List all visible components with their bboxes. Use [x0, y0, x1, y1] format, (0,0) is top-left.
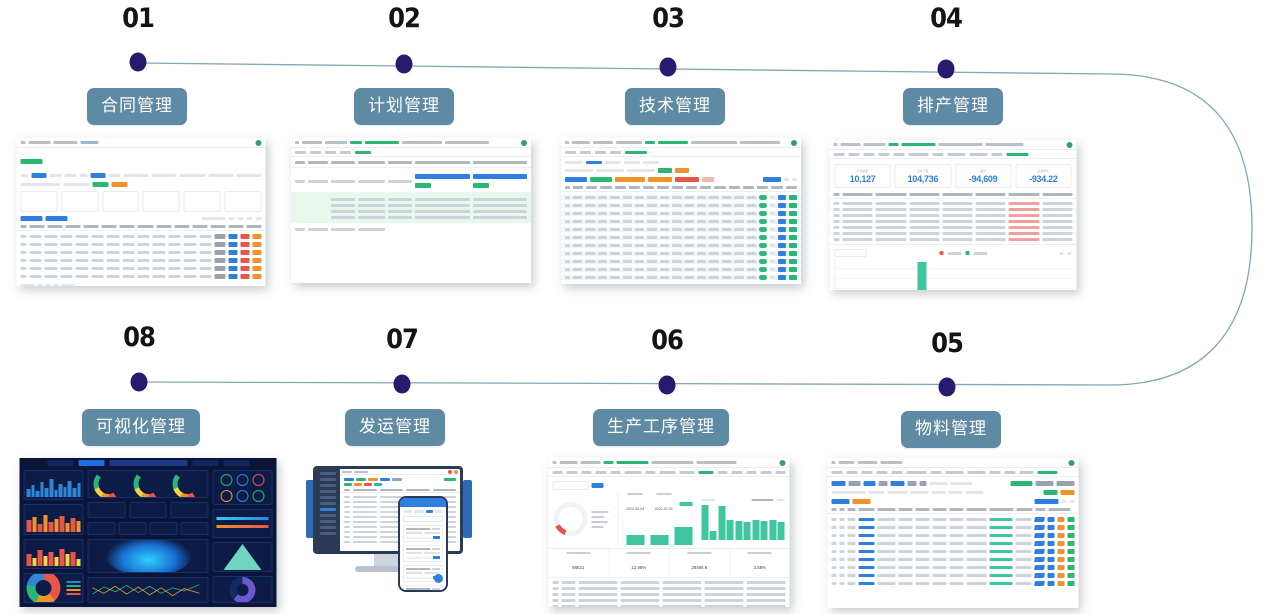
step-label-technical-management[interactable]: 技术管理 [625, 88, 725, 125]
kpi-value: 12.98% [631, 565, 646, 570]
bar-actual [918, 262, 927, 290]
table-row[interactable] [828, 565, 1079, 570]
step-label-contract-management[interactable]: 合同管理 [87, 88, 187, 125]
bi-pyramid-chart [212, 542, 272, 572]
mini-avatar [256, 140, 262, 146]
table-row[interactable] [561, 259, 801, 264]
mini-breadcrumb-bar [17, 138, 266, 148]
thumbnail-technical-management[interactable] [561, 138, 801, 284]
list-item[interactable] [403, 545, 443, 562]
pagination[interactable] [17, 284, 266, 286]
phone-app-bar [400, 498, 446, 507]
thumbnail-scheduling-dashboard[interactable]: 计划总量 10,127 实际产量 104,736 差异 -94,609 完成 [830, 140, 1077, 290]
step-label-shipping-management[interactable]: 发运管理 [345, 409, 445, 446]
progress-ring [554, 502, 588, 536]
table-row[interactable] [291, 204, 531, 207]
step-label-scheduling-management[interactable]: 排产管理 [903, 88, 1003, 125]
table-row[interactable] [830, 232, 1077, 235]
kpi-card: 差异 -94,609 [955, 164, 1011, 188]
step-label-visualization-management[interactable]: 可视化管理 [82, 409, 200, 446]
step-number-02: 02 [388, 3, 420, 34]
table-row[interactable] [549, 599, 790, 602]
table-row[interactable] [291, 228, 531, 231]
list-item[interactable] [403, 585, 443, 590]
date-to: 2022-07-31 [655, 507, 673, 511]
table-row[interactable] [17, 266, 266, 271]
table-row[interactable] [828, 549, 1079, 554]
thumbnail-shipping-devices[interactable] [302, 458, 488, 607]
kpi-value: 10,127 [850, 174, 876, 184]
bi-donut-chart [24, 573, 84, 603]
bi-board-title [109, 460, 187, 466]
table-row[interactable] [561, 203, 801, 208]
bi-header [20, 458, 277, 468]
table-row[interactable] [17, 242, 266, 247]
step-label-process-management[interactable]: 生产工序管理 [593, 409, 729, 446]
table-row[interactable] [561, 251, 801, 256]
step-label-plan-management[interactable]: 计划管理 [354, 88, 454, 125]
table-row[interactable] [291, 198, 531, 201]
table-row[interactable] [561, 211, 801, 216]
table-row[interactable] [549, 593, 790, 596]
bi-mini-gauges [212, 470, 272, 505]
step-number-01: 01 [122, 3, 154, 34]
table-row[interactable] [561, 219, 801, 224]
bi-bar-chart-3 [24, 539, 84, 569]
table-row[interactable] [17, 274, 266, 279]
bi-progress-bars [212, 509, 272, 538]
list-item[interactable] [403, 525, 443, 542]
table-row[interactable] [291, 216, 531, 219]
table-row[interactable] [561, 267, 801, 272]
flow-dot-01[interactable] [130, 53, 147, 72]
kpi-value: -94,609 [969, 174, 997, 184]
table-row[interactable] [830, 214, 1077, 217]
table-row[interactable] [561, 243, 801, 248]
table-row[interactable] [830, 220, 1077, 223]
table-row[interactable] [830, 226, 1077, 229]
flow-dot-06[interactable] [659, 376, 676, 395]
kpi-card: 计划总量 10,127 [835, 164, 891, 188]
kpi-card: 完成率% -934.22 [1015, 164, 1071, 188]
thumbnail-process-dashboard[interactable]: 2022-05-04 2022-07-31 [549, 458, 790, 607]
bi-bar-chart-1 [24, 470, 84, 500]
table-row[interactable] [549, 587, 790, 590]
table-row[interactable] [561, 235, 801, 240]
process-kpi-row: 98521 12.98% 28495.9 3.58% [549, 548, 790, 578]
table-row[interactable] [561, 227, 801, 232]
table-row[interactable] [828, 517, 1079, 522]
gauge-icon [173, 470, 203, 498]
step-number-03: 03 [652, 3, 684, 34]
table-row[interactable] [830, 238, 1077, 241]
phone-fab-button[interactable] [434, 574, 443, 583]
step-number-06: 06 [651, 325, 683, 356]
step-number-04: 04 [930, 3, 962, 34]
table-row[interactable] [17, 234, 266, 239]
kpi-value: 3.58% [754, 565, 766, 570]
table-row[interactable] [828, 533, 1079, 538]
gauge-icon [133, 470, 163, 498]
table-row[interactable] [828, 525, 1079, 530]
kpi-card: 实际产量 104,736 [895, 164, 951, 188]
bi-bar-chart-2 [24, 504, 84, 534]
step-number-07: 07 [386, 324, 418, 355]
thumbnail-plan-management[interactable] [291, 138, 531, 283]
kpi-value: 104,736 [908, 174, 938, 184]
date-from: 2022-05-04 [626, 507, 644, 511]
thumbnail-contract-management[interactable] [17, 138, 266, 286]
table-row[interactable] [17, 250, 266, 255]
table-row[interactable] [549, 581, 790, 584]
table-row[interactable] [828, 557, 1079, 562]
kpi-value: 28495.9 [691, 565, 707, 570]
flow-dot-02[interactable] [396, 55, 413, 74]
table-row[interactable] [291, 210, 531, 213]
thumbnail-material-management[interactable] [828, 458, 1079, 608]
bi-3d-scene [88, 539, 209, 573]
flow-dot-08[interactable] [131, 373, 148, 392]
bi-radial-chart [212, 576, 272, 603]
table-row[interactable] [830, 208, 1077, 211]
flow-diagram: 01 02 03 04 合同管理 计划管理 技术管理 排产管理 [0, 0, 1267, 614]
table-row[interactable] [828, 541, 1079, 546]
table-row[interactable] [830, 202, 1077, 205]
table-row[interactable] [828, 581, 1079, 586]
flow-dot-07[interactable] [394, 375, 411, 394]
flow-dot-04[interactable] [938, 60, 955, 79]
gauge-icon [94, 470, 124, 498]
flow-dot-05[interactable] [939, 378, 956, 397]
table-row[interactable] [561, 195, 801, 200]
table-row[interactable] [828, 573, 1079, 578]
table-row[interactable] [561, 275, 801, 280]
thumbnail-visualization-board[interactable] [20, 458, 277, 607]
step-number-08: 08 [123, 322, 155, 353]
bi-line-chart [88, 577, 209, 603]
bi-gauge-row [88, 470, 209, 498]
table-row[interactable] [549, 605, 790, 607]
kpi-value: -934.22 [1029, 174, 1057, 184]
kpi-row: 计划总量 10,127 实际产量 104,736 差异 -94,609 完成 [830, 159, 1077, 188]
kpi-value: 98521 [572, 565, 584, 570]
flow-dot-03[interactable] [660, 58, 677, 77]
mobile-phone [398, 496, 448, 592]
step-label-material-management[interactable]: 物料管理 [901, 411, 1001, 448]
step-number-05: 05 [931, 328, 963, 359]
app-sidebar [316, 469, 340, 551]
table-row[interactable] [17, 258, 266, 263]
